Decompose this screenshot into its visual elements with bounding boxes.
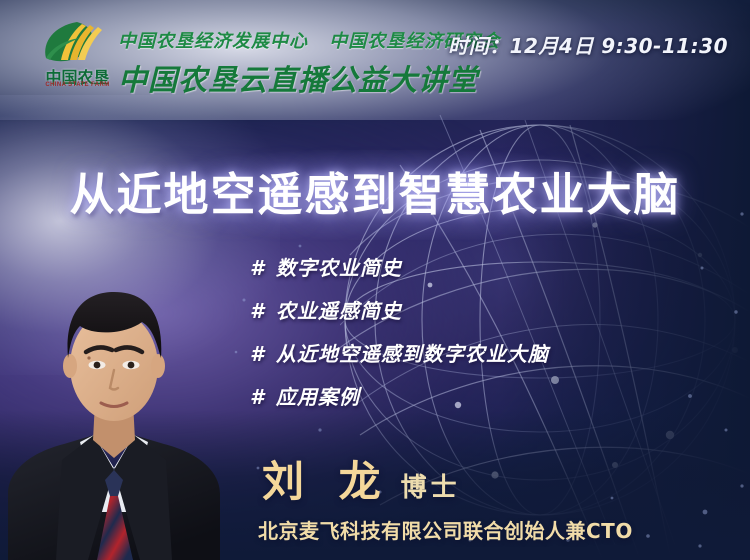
hash-icon: #: [250, 256, 265, 280]
list-item: # 从近地空遥感到数字农业大脑: [250, 338, 670, 381]
topic-label: 农业遥感简史: [276, 295, 402, 324]
logo-english-text: CHINA STATE FARM: [30, 82, 125, 88]
hash-icon: #: [250, 299, 265, 323]
program-brand-title: 中国农垦云直播公益大讲堂: [118, 57, 478, 99]
logo-leaf-icon: [30, 18, 125, 66]
list-item: # 农业遥感简史: [250, 295, 670, 338]
organizer-1: 中国农垦经济发展中心: [118, 31, 308, 52]
speaker-name-row: 刘 龙 博士: [0, 448, 750, 509]
hash-icon: #: [250, 385, 265, 409]
topic-list: # 数字农业简史 # 农业遥感简史 # 从近地空遥感到数字农业大脑 # 应用案例: [250, 252, 670, 424]
speaker-name: 刘 龙: [262, 448, 391, 509]
topic-label: 数字农业简史: [276, 252, 402, 281]
list-item: # 数字农业简史: [250, 252, 670, 295]
topic-label: 应用案例: [276, 381, 360, 410]
topic-label: 从近地空遥感到数字农业大脑: [276, 338, 549, 367]
list-item: # 应用案例: [250, 381, 670, 424]
event-time: 时间：12月4日 9:30-11:30: [448, 30, 728, 59]
speaker-info: 刘 龙 博士 北京麦飞科技有限公司联合创始人兼CTO: [0, 448, 750, 544]
page-title: 从近地空遥感到智慧农业大脑: [0, 158, 750, 223]
speaker-affiliation: 北京麦飞科技有限公司联合创始人兼CTO: [0, 515, 750, 544]
poster-header: 中国农垦 CHINA STATE FARM 中国农垦经济发展中心 中国农垦经济研…: [0, 0, 750, 108]
china-state-farm-logo: 中国农垦 CHINA STATE FARM: [30, 18, 125, 94]
speaker-degree: 博士: [401, 467, 461, 504]
hash-icon: #: [250, 342, 265, 366]
webinar-poster: 中国农垦 CHINA STATE FARM 中国农垦经济发展中心 中国农垦经济研…: [0, 0, 750, 560]
